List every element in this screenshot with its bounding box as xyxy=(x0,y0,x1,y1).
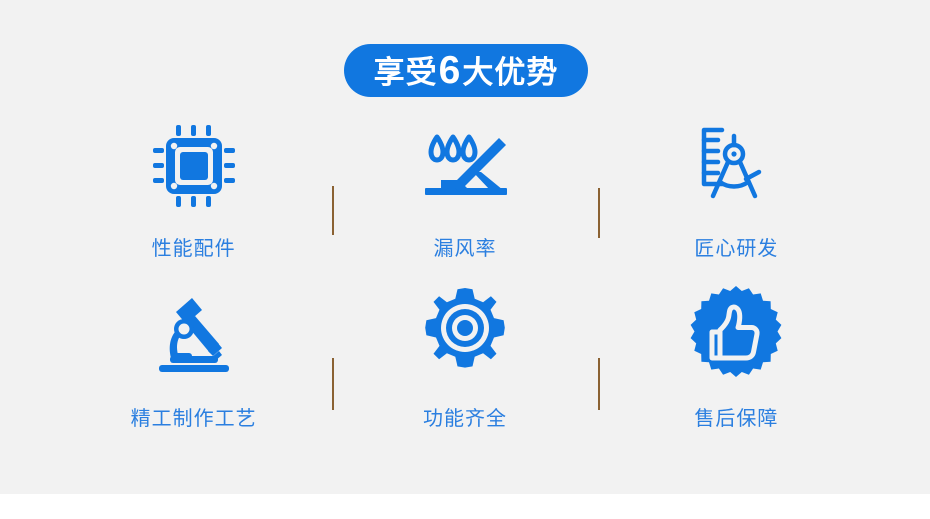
feature-label: 性能配件 xyxy=(152,232,236,261)
water-droplets-leakage-icon xyxy=(411,110,519,222)
feature-label: 功能齐全 xyxy=(423,402,507,431)
banner-text: 享受6大优势 xyxy=(374,51,559,90)
banner-number: 6 xyxy=(438,51,463,90)
column-divider xyxy=(598,358,600,410)
microscope-icon xyxy=(140,280,248,392)
column-divider xyxy=(332,358,334,410)
feature-item-performance-parts[interactable]: 性能配件 xyxy=(58,110,329,280)
column-divider xyxy=(332,186,334,235)
ruler-compass-icon xyxy=(682,110,790,222)
feature-label: 售后保障 xyxy=(694,402,778,431)
gear-icon xyxy=(411,280,519,392)
features-grid: 性能配件 xyxy=(58,110,872,450)
feature-item-after-sales-guarantee[interactable]: 售后保障 xyxy=(601,280,872,450)
banner-prefix: 享受 xyxy=(374,57,438,88)
feature-label: 精工制作工艺 xyxy=(131,402,257,431)
cpu-chip-icon xyxy=(140,110,248,222)
feature-item-full-function[interactable]: 功能齐全 xyxy=(329,280,600,450)
section-title-banner: 享受6大优势 xyxy=(344,44,588,97)
page-root: 享受6大优势 xyxy=(0,0,930,519)
thumbs-up-badge-icon xyxy=(682,280,790,392)
banner-suffix: 大优势 xyxy=(462,57,558,88)
feature-label: 漏风率 xyxy=(433,232,496,261)
feature-label: 匠心研发 xyxy=(694,232,778,261)
feature-item-craftsman-rnd[interactable]: 匠心研发 xyxy=(601,110,872,280)
column-divider xyxy=(598,188,600,238)
feature-item-fine-craftsmanship[interactable]: 精工制作工艺 xyxy=(58,280,329,450)
feature-item-air-leakage-rate[interactable]: 漏风率 xyxy=(329,110,600,280)
